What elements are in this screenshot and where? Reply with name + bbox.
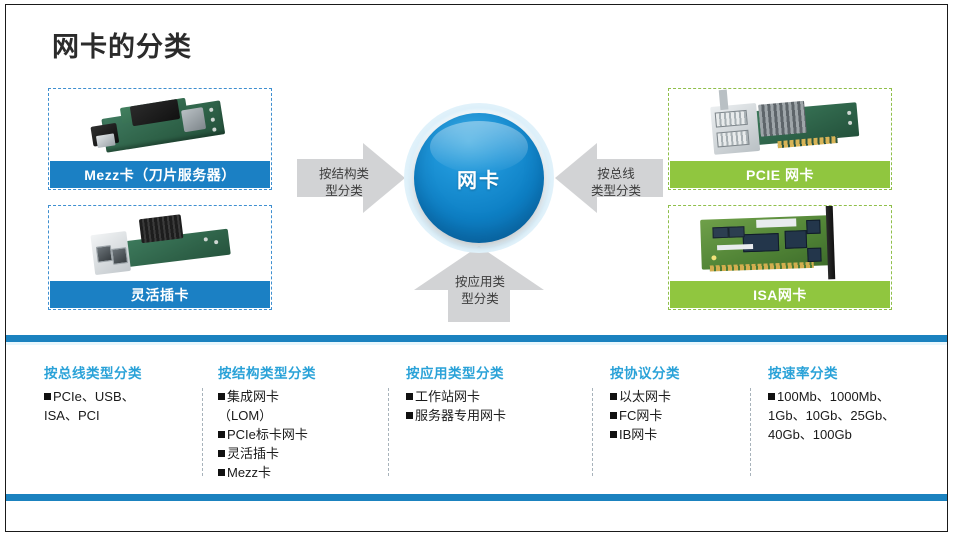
list-item-text: 以太网卡 xyxy=(619,389,671,404)
card-isa[interactable]: ISA网卡 xyxy=(668,205,892,310)
column-items: PCIe、USB、 ISA、PCI xyxy=(44,387,194,425)
column-items: 以太网卡 FC网卡 IB网卡 xyxy=(610,387,730,444)
bullet-icon xyxy=(610,393,617,400)
column-separator xyxy=(202,388,203,476)
flexible-nic-illustration xyxy=(81,206,239,281)
column-protocol: 按协议分类 以太网卡 FC网卡 IB网卡 xyxy=(610,362,730,444)
bullet-icon xyxy=(768,393,775,400)
card-isa-label: ISA网卡 xyxy=(670,281,890,308)
classification-columns: 按总线类型分类 PCIe、USB、 ISA、PCI 按结构类型分类 集成网卡 （… xyxy=(6,346,947,494)
bullet-icon xyxy=(218,431,225,438)
column-separator xyxy=(750,388,751,476)
list-item-text: Mezz卡 xyxy=(227,465,271,480)
list-item-text: 灵活插卡 xyxy=(227,446,279,461)
list-item-text: 工作站网卡 xyxy=(415,389,480,404)
card-pcie[interactable]: PCIE 网卡 xyxy=(668,88,892,190)
column-title: 按总线类型分类 xyxy=(44,362,194,382)
isa-nic-illustration xyxy=(694,206,866,281)
column-structure-type: 按结构类型分类 集成网卡 （LOM） PCIe标卡网卡 灵活插卡 Mezz卡 xyxy=(218,362,378,482)
column-speed: 按速率分类 100Mb、1000Mb、 1Gb、10Gb、25Gb、 40Gb、… xyxy=(768,362,938,444)
bullet-icon xyxy=(610,412,617,419)
column-separator xyxy=(388,388,389,476)
pcie-nic-photo xyxy=(669,89,891,161)
arrow-label-application: 按应用类 型分类 xyxy=(438,274,522,308)
list-item: 集成网卡 （LOM） xyxy=(218,387,378,425)
list-item: FC网卡 xyxy=(610,406,730,425)
isa-nic-photo xyxy=(669,206,891,281)
bullet-icon xyxy=(218,393,225,400)
arrow-label-bus: 按总线 类型分类 xyxy=(575,166,657,200)
column-items: 100Mb、1000Mb、 1Gb、10Gb、25Gb、 40Gb、100Gb xyxy=(768,387,938,444)
hub-label: 网卡 xyxy=(457,164,501,193)
list-item: PCIe、USB、 ISA、PCI xyxy=(44,387,194,425)
list-item: 工作站网卡 xyxy=(406,387,576,406)
list-item: 100Mb、1000Mb、 1Gb、10Gb、25Gb、 40Gb、100Gb xyxy=(768,387,938,444)
list-item: 服务器专用网卡 xyxy=(406,406,576,425)
column-bus-type: 按总线类型分类 PCIe、USB、 ISA、PCI xyxy=(44,362,194,425)
bullet-icon xyxy=(610,431,617,438)
bullet-icon xyxy=(44,393,51,400)
column-title: 按速率分类 xyxy=(768,362,938,382)
card-flex-label: 灵活插卡 xyxy=(50,281,270,308)
column-items: 集成网卡 （LOM） PCIe标卡网卡 灵活插卡 Mezz卡 xyxy=(218,387,378,482)
divider-rule-top-glow xyxy=(6,342,947,345)
bullet-icon xyxy=(218,450,225,457)
bullet-icon xyxy=(218,469,225,476)
mezzanine-nic-illustration xyxy=(81,89,238,161)
list-item-text: 服务器专用网卡 xyxy=(415,408,506,423)
card-flex[interactable]: 灵活插卡 xyxy=(48,205,272,310)
list-item: IB网卡 xyxy=(610,425,730,444)
bullet-icon xyxy=(406,412,413,419)
slide-canvas: 网卡的分类 Mezz卡（刀片服务器） xyxy=(0,0,960,540)
column-application-type: 按应用类型分类 工作站网卡 服务器专用网卡 xyxy=(406,362,576,425)
column-title: 按结构类型分类 xyxy=(218,362,378,382)
column-title: 按应用类型分类 xyxy=(406,362,576,382)
card-pcie-label: PCIE 网卡 xyxy=(670,161,890,188)
arrow-label-structure: 按结构类 型分类 xyxy=(303,166,385,200)
list-item: PCIe标卡网卡 xyxy=(218,425,378,444)
list-item-text: PCIe标卡网卡 xyxy=(227,427,308,442)
bullet-icon xyxy=(406,393,413,400)
list-item: 灵活插卡 xyxy=(218,444,378,463)
column-separator xyxy=(592,388,593,476)
list-item-text: FC网卡 xyxy=(619,408,662,423)
hub-circle[interactable]: 网卡 xyxy=(414,113,544,243)
divider-rule-bottom xyxy=(6,494,947,501)
list-item-text: PCIe、USB、 ISA、PCI xyxy=(44,389,135,423)
mezzanine-nic-photo xyxy=(49,89,271,161)
flexible-nic-photo xyxy=(49,206,271,281)
list-item: 以太网卡 xyxy=(610,387,730,406)
divider-rule-top xyxy=(6,335,947,342)
list-item: Mezz卡 xyxy=(218,463,378,482)
card-mezz[interactable]: Mezz卡（刀片服务器） xyxy=(48,88,272,190)
list-item-text: 100Mb、1000Mb、 1Gb、10Gb、25Gb、 40Gb、100Gb xyxy=(768,389,895,442)
column-title: 按协议分类 xyxy=(610,362,730,382)
card-mezz-label: Mezz卡（刀片服务器） xyxy=(50,161,270,188)
page-title: 网卡的分类 xyxy=(52,34,192,61)
list-item-text: 集成网卡 （LOM） xyxy=(218,389,279,423)
list-item-text: IB网卡 xyxy=(619,427,657,442)
column-items: 工作站网卡 服务器专用网卡 xyxy=(406,387,576,425)
pcie-nic-illustration xyxy=(696,89,865,161)
